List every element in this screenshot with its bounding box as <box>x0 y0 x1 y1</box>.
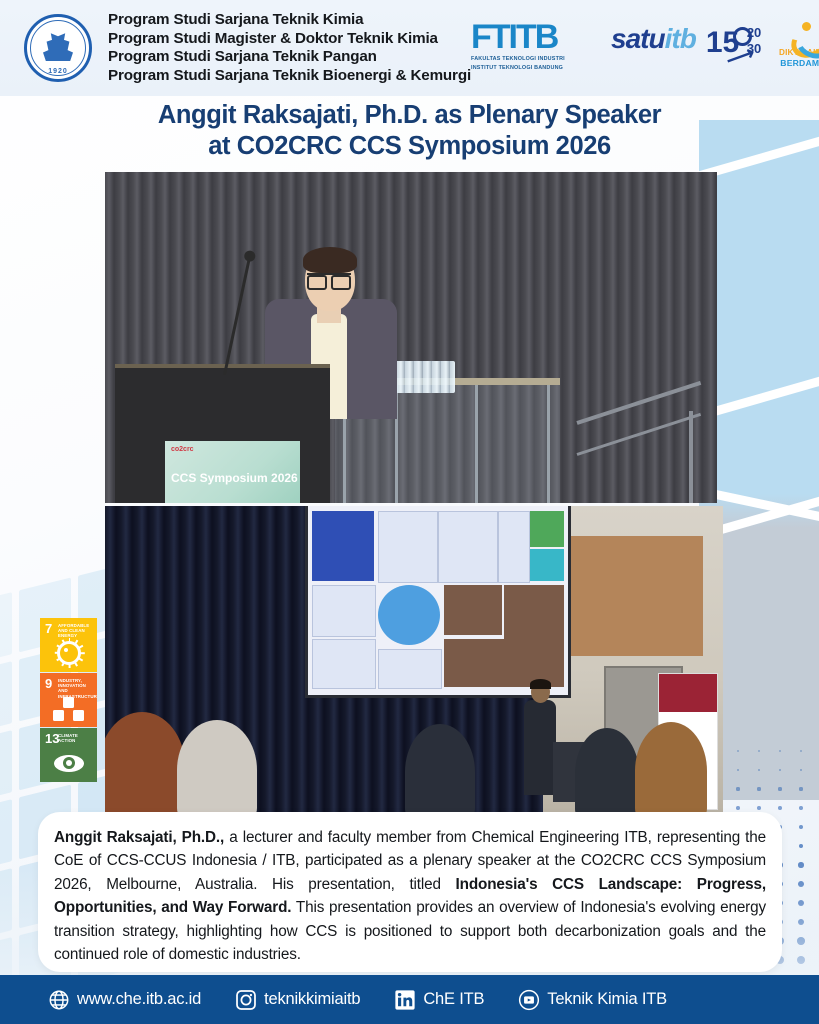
fti-itb-subtitle-2: INSTITUT TEKNOLOGI BANDUNG <box>471 65 601 72</box>
sdg-label: CLIMATE ACTION <box>58 733 94 743</box>
fti-itb-subtitle-1: FAKULTAS TEKNOLOGI INDUSTRI <box>471 56 601 63</box>
program-list: Program Studi Sarjana Teknik Kimia Progr… <box>108 11 471 85</box>
sdg-badge-13: 13 CLIMATE ACTION <box>40 728 97 782</box>
program-item: Program Studi Sarjana Teknik Pangan <box>108 48 471 67</box>
youtube-icon <box>518 989 540 1011</box>
poster-header: 1920 Program Studi Sarjana Teknik Kimia … <box>0 0 819 96</box>
title-line-2: at CO2CRC CCS Symposium 2026 <box>0 131 819 162</box>
cubes-icon <box>53 697 85 723</box>
diktisaintek-logo: DIKTISAINTEK BERDAMPAK <box>778 22 819 68</box>
sdg-badge-9: 9 INDUSTRY, INNOVATION AND INFRASTRUCTUR… <box>40 673 97 727</box>
globe-icon <box>48 989 70 1011</box>
wood-panel <box>563 536 703 656</box>
footer-linkedin-label: ChE ITB <box>423 990 484 1009</box>
poster-footer: www.che.itb.ac.id teknikkimiaitb <box>0 975 819 1024</box>
program-item: Program Studi Sarjana Teknik Kimia <box>108 11 471 30</box>
photo-presentation-audience <box>105 506 723 820</box>
podium-event-title: CCS Symposium 2026 <box>171 471 300 485</box>
seal-year: 1920 <box>20 68 96 75</box>
sdg-number: 9 <box>45 677 52 690</box>
poster-title: Anggit Raksajati, Ph.D. as Plenary Speak… <box>0 100 819 162</box>
description-paragraph: Anggit Raksajati, Ph.D., a lecturer and … <box>54 826 766 966</box>
eyeglasses-icon <box>307 273 351 286</box>
sdg-label: AFFORDABLE AND CLEAN ENERGY <box>58 623 94 639</box>
audience-group <box>105 705 723 820</box>
anniversary-1530-logo: 15 ⟶ 20 30 <box>706 24 768 76</box>
photo-speaker-at-podium: co2crc CCS Symposium 2026 <box>105 172 717 503</box>
footer-instagram-label: teknikkimiaitb <box>264 990 360 1009</box>
eye-globe-icon <box>40 748 97 778</box>
itb-seal-logo: 1920 <box>20 10 96 86</box>
fti-itb-wordmark: FTITB <box>471 20 601 54</box>
footer-youtube-label: Teknik Kimia ITB <box>547 990 667 1009</box>
sdg-number: 7 <box>45 622 52 635</box>
satu-text: satu <box>611 23 665 54</box>
linkedin-icon <box>394 989 416 1011</box>
footer-linkedin[interactable]: ChE ITB <box>394 989 484 1011</box>
header-logo-group: FTITB FAKULTAS TEKNOLOGI INDUSTRI INSTIT… <box>471 20 819 76</box>
co2crc-brand: co2crc <box>171 446 300 453</box>
footer-website-label: www.che.itb.ac.id <box>77 990 201 1009</box>
diktisaintek-line2: BERDAMPAK <box>778 58 819 68</box>
footer-youtube[interactable]: Teknik Kimia ITB <box>518 989 667 1011</box>
footer-instagram[interactable]: teknikkimiaitb <box>235 989 360 1011</box>
sdg-badge-7: 7 AFFORDABLE AND CLEAN ENERGY <box>40 618 97 672</box>
program-item: Program Studi Sarjana Teknik Bioenergi &… <box>108 67 471 86</box>
description-card: Anggit Raksajati, Ph.D., a lecturer and … <box>38 812 782 972</box>
stair-rail <box>577 411 707 503</box>
sdg-badge-group: 7 AFFORDABLE AND CLEAN ENERGY 9 INDUSTRY… <box>40 618 97 783</box>
fti-itb-logo: FTITB FAKULTAS TEKNOLOGI INDUSTRI INSTIT… <box>471 20 601 71</box>
poster-root: 1920 Program Studi Sarjana Teknik Kimia … <box>0 0 819 1024</box>
satu-itb-logo: satuitb <box>611 24 696 54</box>
description-lead: Anggit Raksajati, Ph.D., <box>54 829 224 846</box>
diktisaintek-figure-icon <box>778 22 819 48</box>
instagram-icon <box>235 989 257 1011</box>
sdg-label: INDUSTRY, INNOVATION AND INFRASTRUCTURE <box>58 678 94 699</box>
anniversary-year-bottom: 30 <box>747 42 761 56</box>
anniversary-year-top: 20 <box>747 26 761 40</box>
satu-itb-text: itb <box>665 23 696 54</box>
podium-sign: co2crc CCS Symposium 2026 <box>165 441 300 503</box>
title-line-1: Anggit Raksajati, Ph.D. as Plenary Speak… <box>0 100 819 131</box>
sun-icon <box>40 638 97 668</box>
program-item: Program Studi Magister & Doktor Teknik K… <box>108 30 471 49</box>
footer-website[interactable]: www.che.itb.ac.id <box>48 989 201 1011</box>
